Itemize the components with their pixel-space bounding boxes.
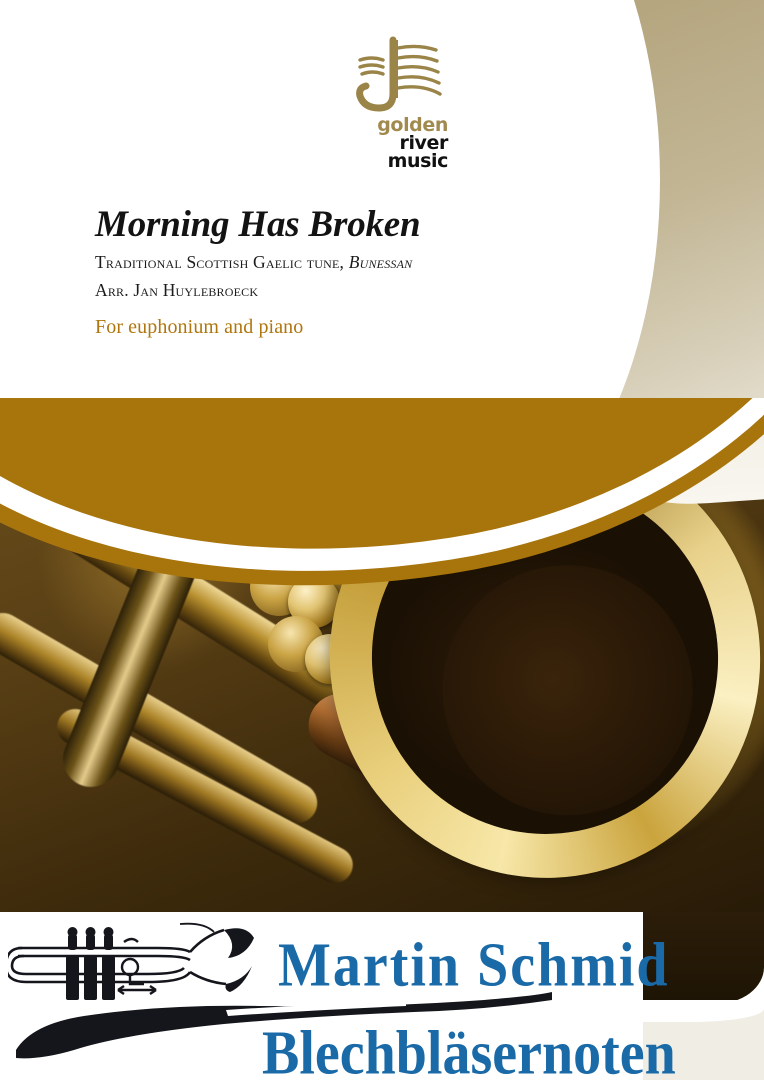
- publisher-wordmark: golden river music: [336, 116, 448, 170]
- cover-photo-region: [0, 398, 764, 958]
- page-title: Morning Has Broken: [95, 206, 515, 245]
- music-note-staff-logo-icon: [336, 36, 462, 114]
- retailer-name-line-2: Blechbläsernoten: [262, 1022, 676, 1080]
- bell-throat: [427, 549, 709, 831]
- credit-source-text: Traditional Scottish Gaelic tune,: [95, 252, 349, 272]
- publisher-name-music: music: [336, 152, 448, 170]
- retailer-name-line-1: Martin Schmid: [278, 934, 670, 997]
- publisher-logo: golden river music: [336, 36, 462, 166]
- credit-line-1: Traditional Scottish Gaelic tune, Buness…: [95, 245, 515, 273]
- credit-tune-name: Bunessan: [349, 252, 413, 272]
- title-block: Morning Has Broken Traditional Scottish …: [95, 206, 515, 339]
- instrumentation-line: For euphonium and piano: [95, 302, 515, 339]
- credit-line-2: Arr. Jan Huylebroeck: [95, 273, 515, 301]
- sheet-music-cover: golden river music Morning Has Broken Tr…: [0, 0, 764, 1080]
